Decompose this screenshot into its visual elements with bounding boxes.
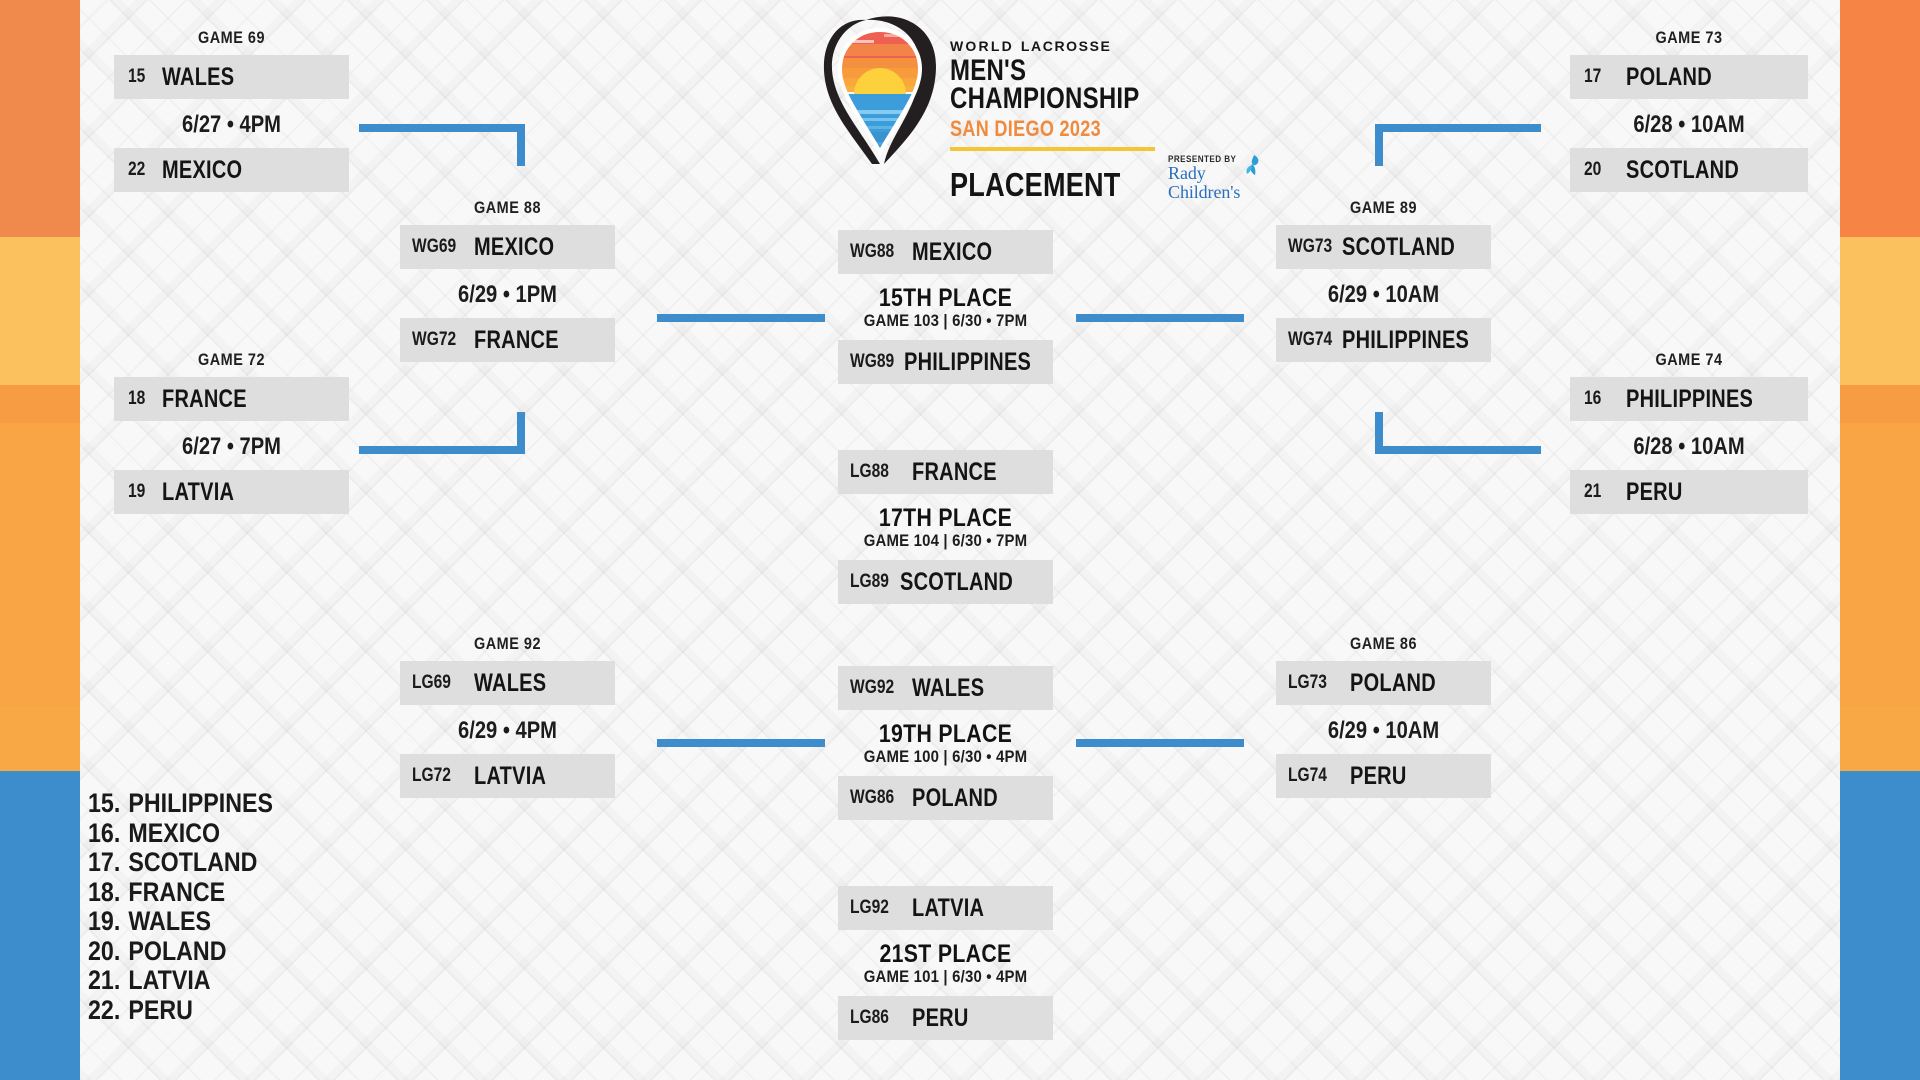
- place17-top-seed: LG88: [850, 461, 901, 483]
- standings-rank: 20.: [88, 938, 128, 966]
- place21-bottom-seed: LG86: [850, 1007, 901, 1029]
- standings-row: 17.SCOTLAND: [88, 849, 273, 877]
- standings-row: 16.MEXICO: [88, 820, 273, 848]
- game88-top-seed: WG69: [412, 236, 463, 258]
- title-line-mens: MEN'S: [950, 57, 1190, 85]
- matchup-game89[interactable]: GAME 89 WG73 SCOTLAND 6/29 • 10AM WG74 P…: [1276, 198, 1491, 362]
- color-band-2: [0, 385, 80, 423]
- game92-top-slot[interactable]: LG69 WALES: [400, 661, 615, 705]
- game74-time: 6/28 • 10AM: [1589, 433, 1789, 461]
- standings-row: 15.PHILIPPINES: [88, 790, 273, 818]
- game72-bottom-slot[interactable]: 19 LATVIA: [114, 470, 349, 514]
- game88-bottom-slot[interactable]: WG72 FRANCE: [400, 318, 615, 362]
- place19-top-team: WALES: [912, 674, 984, 703]
- connector-g88-to-place15: [657, 314, 825, 322]
- game89-bottom-team: PHILIPPINES: [1342, 326, 1469, 355]
- game88-bottom-team: FRANCE: [474, 326, 559, 355]
- place19-bottom-slot[interactable]: WG86 POLAND: [838, 776, 1053, 820]
- game86-bottom-team: PERU: [1350, 762, 1407, 791]
- place17-top-team: FRANCE: [912, 458, 997, 487]
- place15-bottom-team: PHILIPPINES: [904, 348, 1031, 377]
- place15-subtitle: GAME 103 | 6/30 • 7PM: [851, 311, 1040, 331]
- color-band-3: [1840, 423, 1920, 706]
- game69-top-slot[interactable]: 15 WALES: [114, 55, 349, 99]
- standings-team: WALES: [128, 908, 211, 936]
- standings-rank: 17.: [88, 849, 128, 877]
- place17-bottom-slot[interactable]: LG89 SCOTLAND: [838, 560, 1053, 604]
- left-color-bar: [0, 0, 80, 1080]
- bracket-canvas: WORLD LACROSSE MEN'S CHAMPIONSHIP SAN DI…: [80, 0, 1840, 1080]
- standings-team: SCOTLAND: [128, 849, 257, 877]
- place15-top-seed: WG88: [850, 241, 901, 263]
- matchup-game69[interactable]: GAME 69 15 WALES 6/27 • 4PM 22 MEXICO: [114, 28, 349, 192]
- color-band-3: [0, 423, 80, 706]
- game89-time: 6/29 • 10AM: [1293, 281, 1474, 309]
- place21-top-team: LATVIA: [912, 894, 984, 923]
- place19-bottom-seed: WG86: [850, 787, 901, 809]
- color-band-0: [0, 0, 80, 237]
- game92-bottom-team: LATVIA: [474, 762, 546, 791]
- game69-top-team: WALES: [162, 63, 234, 92]
- game73-label: GAME 73: [1588, 28, 1790, 48]
- color-band-5: [0, 771, 80, 1080]
- standings-team: PHILIPPINES: [128, 790, 273, 818]
- standings-row: 21.LATVIA: [88, 967, 273, 995]
- standings-rank: 21.: [88, 967, 128, 995]
- game74-top-team: PHILIPPINES: [1626, 385, 1753, 414]
- game69-label: GAME 69: [132, 28, 332, 48]
- game86-bottom-slot[interactable]: LG74 PERU: [1276, 754, 1491, 798]
- connector-g74-to-g89-horizontal: [1375, 446, 1541, 454]
- standings-team: PERU: [128, 997, 193, 1025]
- place17-bottom-seed: LG89: [850, 571, 891, 593]
- connector-g73-to-g89-vertical: [1375, 124, 1383, 166]
- game92-top-seed: LG69: [412, 672, 463, 694]
- standings-rank: 19.: [88, 908, 128, 936]
- org-lacrosse-text: LACROSSE: [1021, 38, 1112, 54]
- game86-top-seed: LG73: [1288, 672, 1339, 694]
- event-header: WORLD LACROSSE MEN'S CHAMPIONSHIP SAN DI…: [822, 8, 1242, 188]
- game92-time: 6/29 • 4PM: [417, 717, 598, 745]
- place21-subtitle: GAME 101 | 6/30 • 4PM: [851, 967, 1040, 987]
- game88-bottom-seed: WG72: [412, 329, 463, 351]
- game73-top-seed: 17: [1584, 66, 1618, 88]
- place15-title: 15TH PLACE: [854, 285, 1037, 311]
- game73-bottom-slot[interactable]: 20 SCOTLAND: [1570, 148, 1808, 192]
- connector-g89-to-place15: [1076, 314, 1244, 322]
- sponsor-leaf-icon: [1243, 154, 1261, 176]
- game74-top-slot[interactable]: 16 PHILIPPINES: [1570, 377, 1808, 421]
- game92-bottom-slot[interactable]: LG72 LATVIA: [400, 754, 615, 798]
- connector-g72-to-g88-horizontal: [359, 446, 525, 454]
- sponsor-name-text: Rady Children's: [1168, 163, 1240, 202]
- color-band-5: [1840, 771, 1920, 1080]
- color-band-0: [1840, 0, 1920, 237]
- game73-time: 6/28 • 10AM: [1589, 111, 1789, 139]
- place21-top-seed: LG92: [850, 897, 901, 919]
- final-21st-place[interactable]: LG92 LATVIA 21ST PLACE GAME 101 | 6/30 •…: [838, 886, 1053, 1040]
- game86-bottom-seed: LG74: [1288, 765, 1339, 787]
- game69-bottom-seed: 22: [128, 159, 156, 181]
- place17-title: 17TH PLACE: [854, 505, 1037, 531]
- matchup-game72[interactable]: GAME 72 18 FRANCE 6/27 • 7PM 19 LATVIA: [114, 350, 349, 514]
- game88-top-slot[interactable]: WG69 MEXICO: [400, 225, 615, 269]
- matchup-game92[interactable]: GAME 92 LG69 WALES 6/29 • 4PM LG72 LATVI…: [400, 634, 615, 798]
- standings-rank: 16.: [88, 820, 128, 848]
- standings-rank: 18.: [88, 879, 128, 907]
- game72-top-team: FRANCE: [162, 385, 247, 414]
- title-line-championship: CHAMPIONSHIP: [950, 85, 1190, 113]
- connector-g74-to-g89-vertical: [1375, 412, 1383, 454]
- game72-bottom-team: LATVIA: [162, 478, 234, 507]
- matchup-game73[interactable]: GAME 73 17 POLAND 6/28 • 10AM 20 SCOTLAN…: [1570, 28, 1808, 192]
- connector-g86-to-place19: [1076, 739, 1244, 747]
- game86-top-team: POLAND: [1350, 669, 1436, 698]
- standings-team: MEXICO: [128, 820, 220, 848]
- game89-top-seed: WG73: [1288, 236, 1332, 258]
- game88-time: 6/29 • 1PM: [417, 281, 598, 309]
- standings-team: POLAND: [128, 938, 226, 966]
- game73-bottom-seed: 20: [1584, 159, 1618, 181]
- standings-rank: 15.: [88, 790, 128, 818]
- game89-top-team: SCOTLAND: [1342, 233, 1455, 262]
- standings-row: 22.PERU: [88, 997, 273, 1025]
- game72-label: GAME 72: [132, 350, 332, 370]
- right-color-bar: [1840, 0, 1920, 1080]
- standings-row: 20.POLAND: [88, 938, 273, 966]
- place15-top-team: MEXICO: [912, 238, 992, 267]
- connector-g72-to-g88-vertical: [517, 412, 525, 454]
- game86-time: 6/29 • 10AM: [1293, 717, 1474, 745]
- title-divider: [950, 147, 1155, 151]
- game69-top-seed: 15: [128, 66, 156, 88]
- color-band-1: [0, 237, 80, 385]
- title-city-year: SAN DIEGO 2023: [950, 116, 1196, 142]
- matchup-game74[interactable]: GAME 74 16 PHILIPPINES 6/28 • 10AM 21 PE…: [1570, 350, 1808, 514]
- game69-bottom-team: MEXICO: [162, 156, 242, 185]
- place15-bottom-slot[interactable]: WG89 PHILIPPINES: [838, 340, 1053, 384]
- place19-top-seed: WG92: [850, 677, 901, 699]
- matchup-game88[interactable]: GAME 88 WG69 MEXICO 6/29 • 1PM WG72 FRAN…: [400, 198, 615, 362]
- color-band-4: [1840, 706, 1920, 771]
- game74-label: GAME 74: [1588, 350, 1790, 370]
- game92-label: GAME 92: [416, 634, 599, 654]
- game72-bottom-seed: 19: [128, 481, 156, 503]
- place17-subtitle: GAME 104 | 6/30 • 7PM: [851, 531, 1040, 551]
- standings-team: FRANCE: [128, 879, 225, 907]
- place21-top-slot[interactable]: LG92 LATVIA: [838, 886, 1053, 930]
- game73-bottom-team: SCOTLAND: [1626, 156, 1739, 185]
- matchup-game86[interactable]: GAME 86 LG73 POLAND 6/29 • 10AM LG74 PER…: [1276, 634, 1491, 798]
- final-17th-place[interactable]: LG88 FRANCE 17TH PLACE GAME 104 | 6/30 •…: [838, 450, 1053, 604]
- connector-g92-to-place19: [657, 739, 825, 747]
- game89-top-slot[interactable]: WG73 SCOTLAND: [1276, 225, 1491, 269]
- game74-bottom-team: PERU: [1626, 478, 1683, 507]
- game72-time: 6/27 • 7PM: [133, 433, 330, 461]
- org-world-text: WORLD: [950, 38, 1014, 54]
- game92-top-team: WALES: [474, 669, 546, 698]
- place17-top-slot[interactable]: LG88 FRANCE: [838, 450, 1053, 494]
- presenting-sponsor: PRESENTED BY Rady Children's: [1168, 154, 1250, 204]
- color-band-2: [1840, 385, 1920, 423]
- game86-top-slot[interactable]: LG73 POLAND: [1276, 661, 1491, 705]
- game73-top-slot[interactable]: 17 POLAND: [1570, 55, 1808, 99]
- final-standings-list: 15.PHILIPPINES16.MEXICO17.SCOTLAND18.FRA…: [88, 790, 303, 1026]
- final-19th-place[interactable]: WG92 WALES 19TH PLACE GAME 100 | 6/30 • …: [838, 666, 1053, 820]
- connector-g69-to-g88-vertical: [517, 124, 525, 166]
- bracket-name: PLACEMENT: [950, 166, 1121, 204]
- game88-top-team: MEXICO: [474, 233, 554, 262]
- place19-subtitle: GAME 100 | 6/30 • 4PM: [851, 747, 1040, 767]
- game74-bottom-slot[interactable]: 21 PERU: [1570, 470, 1808, 514]
- game72-top-slot[interactable]: 18 FRANCE: [114, 377, 349, 421]
- game69-bottom-slot[interactable]: 22 MEXICO: [114, 148, 349, 192]
- game89-bottom-seed: WG74: [1288, 329, 1332, 351]
- place21-bottom-team: PERU: [912, 1004, 969, 1033]
- game88-label: GAME 88: [416, 198, 599, 218]
- place21-title: 21ST PLACE: [854, 941, 1037, 967]
- standings-row: 18.FRANCE: [88, 879, 273, 907]
- standings-team: LATVIA: [128, 967, 210, 995]
- game69-time: 6/27 • 4PM: [133, 111, 330, 139]
- color-band-4: [0, 706, 80, 771]
- connector-g73-to-g89-horizontal: [1375, 124, 1541, 132]
- place19-title: 19TH PLACE: [854, 721, 1037, 747]
- place21-bottom-slot[interactable]: LG86 PERU: [838, 996, 1053, 1040]
- game74-top-seed: 16: [1584, 388, 1618, 410]
- place15-top-slot[interactable]: WG88 MEXICO: [838, 230, 1053, 274]
- place19-bottom-team: POLAND: [912, 784, 998, 813]
- world-lacrosse-logo-icon: [822, 14, 940, 166]
- sponsor-name: Rady Children's: [1168, 164, 1250, 202]
- game74-bottom-seed: 21: [1584, 481, 1618, 503]
- game92-bottom-seed: LG72: [412, 765, 463, 787]
- game72-top-seed: 18: [128, 388, 156, 410]
- place19-top-slot[interactable]: WG92 WALES: [838, 666, 1053, 710]
- color-band-1: [1840, 237, 1920, 385]
- game73-top-team: POLAND: [1626, 63, 1712, 92]
- game89-label: GAME 89: [1292, 198, 1475, 218]
- final-15th-place[interactable]: WG88 MEXICO 15TH PLACE GAME 103 | 6/30 •…: [838, 230, 1053, 384]
- game89-bottom-slot[interactable]: WG74 PHILIPPINES: [1276, 318, 1491, 362]
- game86-label: GAME 86: [1292, 634, 1475, 654]
- place15-bottom-seed: WG89: [850, 351, 894, 373]
- org-wordmark: WORLD LACROSSE: [950, 38, 1250, 54]
- standings-rank: 22.: [88, 997, 128, 1025]
- standings-row: 19.WALES: [88, 908, 273, 936]
- connector-g69-to-g88-horizontal: [359, 124, 525, 132]
- place17-bottom-team: SCOTLAND: [900, 568, 1013, 597]
